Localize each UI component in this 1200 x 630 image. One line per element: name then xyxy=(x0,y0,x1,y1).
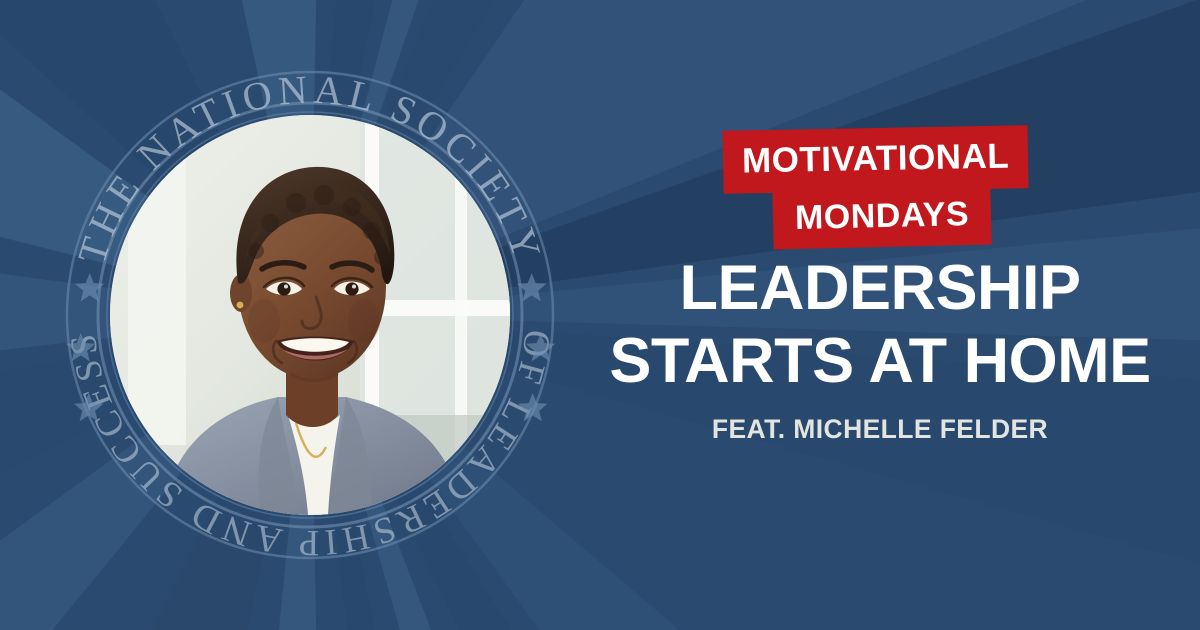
content-column: MOTIVATIONAL MONDAYS LEADERSHIP STARTS A… xyxy=(560,0,1200,630)
headline-line-2: STARTS AT HOME xyxy=(560,325,1200,398)
portrait-illustration xyxy=(110,115,510,515)
avatar xyxy=(110,115,510,515)
headline-line-1: LEADERSHIP xyxy=(560,252,1200,325)
promo-graphic: THE NATIONAL SOCIETY OF LEADERSHIP AND S… xyxy=(0,0,1200,630)
series-badge-line2: MONDAYS xyxy=(772,186,991,250)
series-badge: MOTIVATIONAL MONDAYS xyxy=(560,128,1200,247)
series-badge-line1: MOTIVATIONAL xyxy=(723,125,1029,194)
page-title: LEADERSHIP STARTS AT HOME xyxy=(560,252,1200,398)
subtitle-featuring: FEAT. MICHELLE FELDER xyxy=(560,414,1200,445)
